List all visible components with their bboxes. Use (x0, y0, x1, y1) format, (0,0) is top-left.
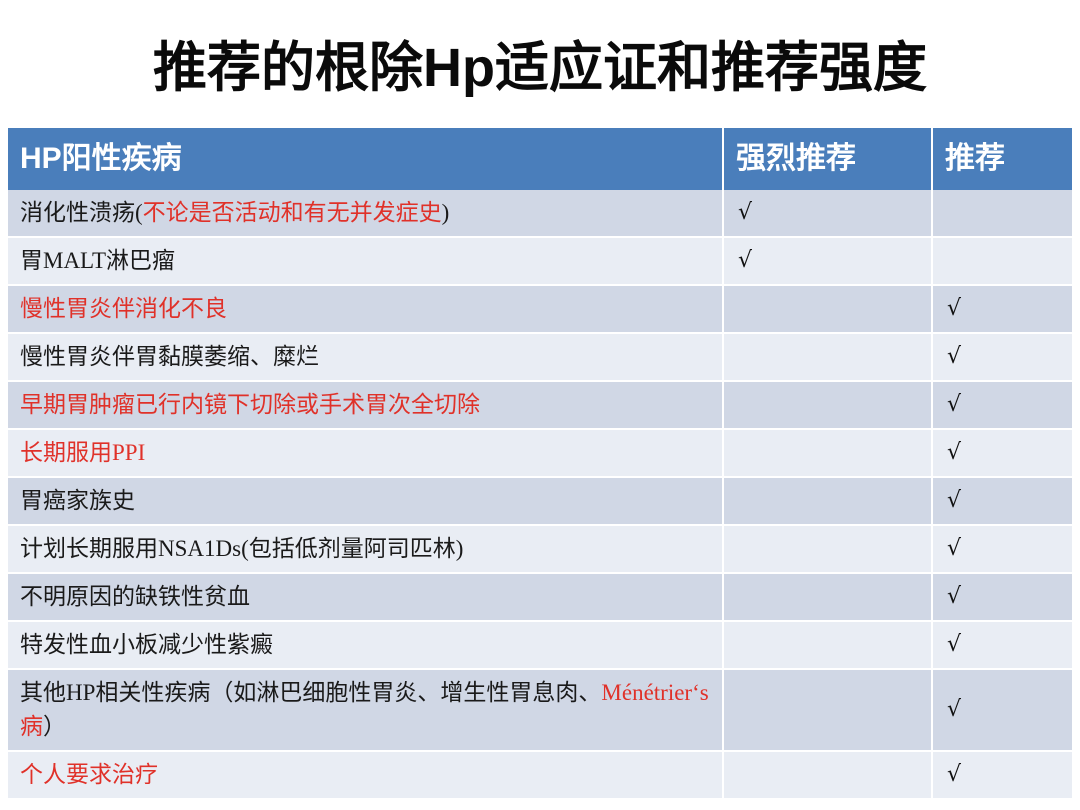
cell-disease: 计划长期服用NSA1Ds(包括低剂量阿司匹林) (8, 525, 723, 573)
cell-strong-recommend-check (723, 429, 932, 477)
cell-disease: 慢性胃炎伴消化不良 (8, 285, 723, 333)
cell-disease: 胃MALT淋巴瘤 (8, 237, 723, 285)
table-row: 消化性溃疡(不论是否活动和有无并发症史)√ (8, 190, 1072, 237)
table-row: 早期胃肿瘤已行内镜下切除或手术胃次全切除√ (8, 381, 1072, 429)
cell-strong-recommend-check: √ (723, 190, 932, 237)
cell-strong-recommend-check (723, 751, 932, 799)
table-row: 慢性胃炎伴胃黏膜萎缩、糜烂√ (8, 333, 1072, 381)
cell-disease: 胃癌家族史 (8, 477, 723, 525)
cell-strong-recommend-check (723, 381, 932, 429)
indications-table: HP阳性疾病 强烈推荐 推荐 消化性溃疡(不论是否活动和有无并发症史)√胃MAL… (8, 128, 1072, 800)
cell-recommend-check: √ (932, 751, 1072, 799)
disease-text-segment: 计划长期服用NSA1Ds(包括低剂量阿司匹林) (20, 536, 463, 561)
table-row: 其他HP相关性疾病（如淋巴细胞性胃炎、增生性胃息肉、Ménétrier‘s病）√ (8, 669, 1072, 751)
table-row: 个人要求治疗√ (8, 751, 1072, 799)
column-header-disease: HP阳性疾病 (8, 128, 723, 190)
cell-disease: 特发性血小板减少性紫癜 (8, 621, 723, 669)
cell-disease: 其他HP相关性疾病（如淋巴细胞性胃炎、增生性胃息肉、Ménétrier‘s病） (8, 669, 723, 751)
table-row: 特发性血小板减少性紫癜√ (8, 621, 1072, 669)
disease-text-segment: 不论是否活动和有无并发症史 (143, 200, 442, 225)
cell-strong-recommend-check (723, 573, 932, 621)
cell-recommend-check: √ (932, 573, 1072, 621)
cell-strong-recommend-check (723, 525, 932, 573)
cell-strong-recommend-check (723, 477, 932, 525)
disease-text-segment: 消化性溃疡( (20, 200, 143, 225)
cell-recommend-check: √ (932, 285, 1072, 333)
indications-table-wrapper: HP阳性疾病 强烈推荐 推荐 消化性溃疡(不论是否活动和有无并发症史)√胃MAL… (8, 128, 1072, 800)
cell-strong-recommend-check (723, 621, 932, 669)
table-row: 不明原因的缺铁性贫血√ (8, 573, 1072, 621)
disease-text-segment: ） (43, 714, 66, 739)
cell-recommend-check (932, 237, 1072, 285)
cell-disease: 消化性溃疡(不论是否活动和有无并发症史) (8, 190, 723, 237)
table-row: 胃MALT淋巴瘤√ (8, 237, 1072, 285)
table-row: 计划长期服用NSA1Ds(包括低剂量阿司匹林)√ (8, 525, 1072, 573)
disease-text-segment: ) (442, 200, 450, 225)
column-header-strong-recommend: 强烈推荐 (723, 128, 932, 190)
disease-text-segment: 个人要求治疗 (20, 762, 158, 787)
disease-text-segment: 慢性胃炎伴消化不良 (20, 296, 227, 321)
cell-disease: 不明原因的缺铁性贫血 (8, 573, 723, 621)
cell-recommend-check: √ (932, 333, 1072, 381)
cell-strong-recommend-check (723, 333, 932, 381)
cell-disease: 早期胃肿瘤已行内镜下切除或手术胃次全切除 (8, 381, 723, 429)
cell-strong-recommend-check (723, 285, 932, 333)
cell-recommend-check: √ (932, 621, 1072, 669)
disease-text-segment: 不明原因的缺铁性贫血 (20, 584, 250, 609)
disease-text-segment: 早期胃肿瘤已行内镜下切除或手术胃次全切除 (20, 392, 480, 417)
disease-text-segment: 其他HP相关性疾病（如淋巴细胞性胃炎、增生性胃息肉、 (20, 680, 601, 705)
table-header: HP阳性疾病 强烈推荐 推荐 (8, 128, 1072, 190)
cell-recommend-check: √ (932, 429, 1072, 477)
table-body: 消化性溃疡(不论是否活动和有无并发症史)√胃MALT淋巴瘤√慢性胃炎伴消化不良√… (8, 190, 1072, 799)
cell-recommend-check: √ (932, 381, 1072, 429)
table-header-row: HP阳性疾病 强烈推荐 推荐 (8, 128, 1072, 190)
disease-text-segment: 胃MALT淋巴瘤 (20, 248, 175, 273)
table-row: 慢性胃炎伴消化不良√ (8, 285, 1072, 333)
table-row: 长期服用PPI√ (8, 429, 1072, 477)
slide-root: 推荐的根除Hp适应证和推荐强度 HP阳性疾病 强烈推荐 推荐 消化性溃疡(不论是… (0, 0, 1080, 810)
disease-text-segment: 长期服用PPI (20, 440, 145, 465)
page-title: 推荐的根除Hp适应证和推荐强度 (0, 36, 1080, 100)
cell-recommend-check (932, 190, 1072, 237)
cell-strong-recommend-check (723, 669, 932, 751)
table-row: 胃癌家族史√ (8, 477, 1072, 525)
disease-text-segment: 胃癌家族史 (20, 488, 135, 513)
disease-text-segment: 慢性胃炎伴胃黏膜萎缩、糜烂 (20, 344, 319, 369)
cell-strong-recommend-check: √ (723, 237, 932, 285)
cell-disease: 慢性胃炎伴胃黏膜萎缩、糜烂 (8, 333, 723, 381)
cell-recommend-check: √ (932, 477, 1072, 525)
disease-text-segment: 特发性血小板减少性紫癜 (20, 632, 273, 657)
cell-disease: 长期服用PPI (8, 429, 723, 477)
column-header-recommend: 推荐 (932, 128, 1072, 190)
cell-recommend-check: √ (932, 669, 1072, 751)
cell-disease: 个人要求治疗 (8, 751, 723, 799)
cell-recommend-check: √ (932, 525, 1072, 573)
